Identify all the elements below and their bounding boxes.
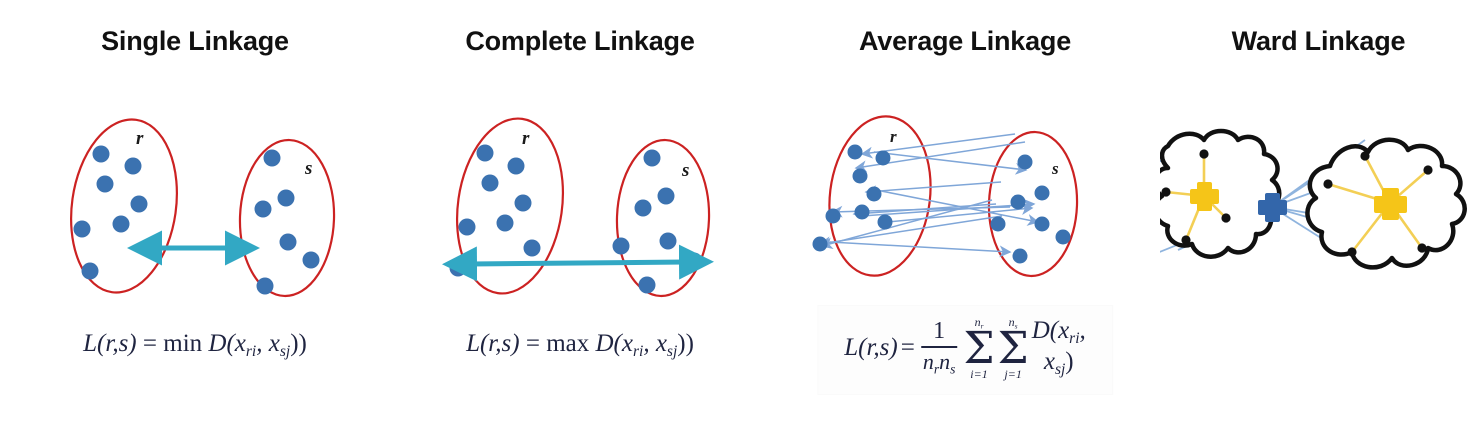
cluster-label-r: r xyxy=(136,128,144,149)
sum-j-lower: j=1 xyxy=(1004,368,1021,380)
formula-average-numerator: 1 xyxy=(929,319,949,344)
formula-single: L(r,s) = min D(xri, xsj)) xyxy=(0,330,390,361)
formula-average-sum-j: ns Σ j=1 xyxy=(998,316,1029,380)
average-linkage-svg: r s xyxy=(770,104,1160,294)
diagram-average-linkage: r s xyxy=(770,104,1160,294)
formula-single-sub2: sj xyxy=(280,343,290,360)
formula-complete-eq: = xyxy=(526,330,540,357)
formula-single-comma: , x xyxy=(256,330,280,357)
complete-linkage-distance-arrow xyxy=(470,262,686,264)
formula-single-arg: D(x xyxy=(208,330,245,357)
formula-average-close: ) xyxy=(1065,348,1073,375)
den-nr: n xyxy=(923,349,934,374)
panel-title-ward: Ward Linkage xyxy=(1160,26,1477,57)
cluster-label-s: s xyxy=(1051,159,1059,178)
single-linkage-svg: r s xyxy=(0,96,390,311)
panel-title-average: Average Linkage xyxy=(770,26,1160,57)
den-ns: n xyxy=(939,349,950,374)
diagram-complete-linkage: r s xyxy=(390,96,770,311)
formula-average-arg: D(x xyxy=(1032,317,1069,344)
formula-average-sum-i: nr Σ i=1 xyxy=(963,316,994,380)
formula-average-box: L(r,s) = 1 nrns nr Σ i=1 ns Σ xyxy=(818,306,1112,394)
formula-complete-sub1: ri xyxy=(633,343,643,360)
formula-complete-lhs: L(r,s) xyxy=(466,330,520,357)
formula-average-eq: = xyxy=(901,334,915,362)
formula-complete: L(r,s) = max D(xri, xsj)) xyxy=(390,330,770,361)
formula-single-sub1: ri xyxy=(246,343,256,360)
cluster-r-outline xyxy=(60,113,187,300)
diagram-single-linkage: r s xyxy=(0,96,390,311)
panel-single-linkage: Single Linkage r s xyxy=(0,0,390,426)
cluster-r-points xyxy=(74,146,156,280)
cluster-label-s: s xyxy=(681,160,689,181)
cluster-label-s: s xyxy=(304,158,312,179)
formula-complete-arg: D(x xyxy=(595,330,632,357)
ward-linkage-svg xyxy=(1160,110,1477,300)
cluster-s-outline xyxy=(237,138,336,297)
formula-complete-sub2: sj xyxy=(667,343,677,360)
panel-ward-linkage: Ward Linkage xyxy=(1160,0,1477,426)
formula-single-close: )) xyxy=(290,330,307,357)
sum-i-lower: i=1 xyxy=(970,368,987,380)
sigma-glyph-j: Σ xyxy=(998,330,1029,368)
formula-average-lhs: L(r,s) xyxy=(844,334,898,362)
fraction-bar xyxy=(921,346,958,348)
den-ns-sub: s xyxy=(950,361,955,376)
formula-average-sub2: sj xyxy=(1055,361,1065,378)
formula-average-arg-group: D(xri, xsj) xyxy=(1032,317,1086,379)
sigma-glyph-i: Σ xyxy=(963,330,994,368)
cluster-label-r: r xyxy=(890,127,897,146)
formula-single-op: min xyxy=(163,330,202,357)
formula-complete-op: max xyxy=(546,330,589,357)
complete-linkage-svg: r s xyxy=(390,96,770,311)
panel-title-complete: Complete Linkage xyxy=(390,26,770,57)
formula-complete-close: )) xyxy=(677,330,694,357)
formula-single-lhs: L(r,s) xyxy=(83,330,137,357)
formula-average-denominator: nrns xyxy=(921,350,958,377)
formula-single-eq: = xyxy=(143,330,157,357)
formula-average-fraction: 1 nrns xyxy=(921,319,958,377)
cluster-label-r: r xyxy=(522,128,530,149)
panel-complete-linkage: Complete Linkage r s xyxy=(390,0,770,426)
panel-average-linkage: Average Linkage xyxy=(770,0,1160,426)
formula-average-sub1: ri xyxy=(1069,330,1079,347)
panel-title-single: Single Linkage xyxy=(0,26,390,57)
cluster-s-outline xyxy=(614,138,711,297)
diagram-ward-linkage xyxy=(1160,110,1477,300)
formula-complete-comma: , x xyxy=(643,330,667,357)
linkage-figure-board: Single Linkage r s xyxy=(0,0,1477,426)
